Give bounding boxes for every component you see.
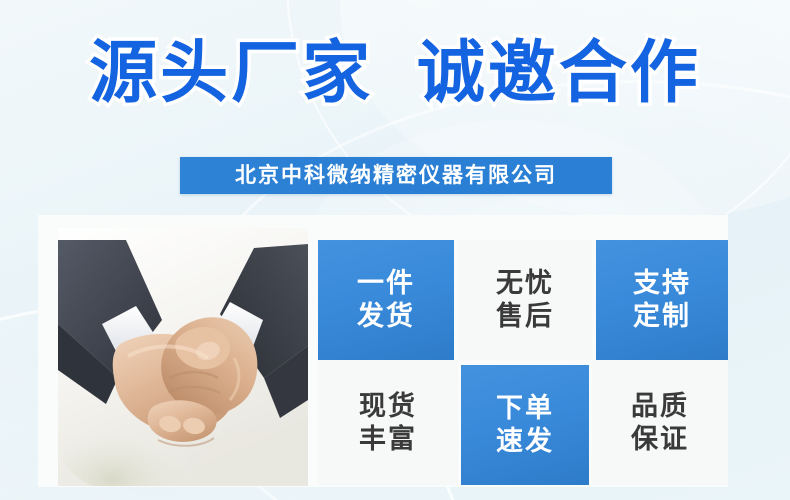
feature-line-2: 售后 <box>496 300 554 333</box>
feature-cell-ample-stock[interactable]: 现货 丰富 <box>318 360 458 485</box>
feature-line-2: 速发 <box>496 425 554 458</box>
promotional-banner: 源头厂家 诚邀合作 北京中科微纳精密仪器有限公司 <box>0 0 790 500</box>
feature-line-1: 现货 <box>359 390 417 423</box>
company-name-bar: 北京中科微纳精密仪器有限公司 <box>180 157 612 194</box>
feature-cell-one-piece-shipping[interactable]: 一件 发货 <box>318 240 454 360</box>
feature-grid: 一件 发货 无忧 售后 支持 定制 现货 丰富 下单 速发 品质 保证 <box>318 240 728 485</box>
headline-title: 源头厂家 诚邀合作 <box>0 36 790 110</box>
feature-line-2: 保证 <box>631 423 689 456</box>
company-name-text: 北京中科微纳精密仪器有限公司 <box>235 165 557 186</box>
feature-line-1: 一件 <box>357 267 415 300</box>
feature-line-2: 发货 <box>357 300 415 333</box>
feature-cell-fast-dispatch[interactable]: 下单 速发 <box>461 365 589 485</box>
feature-cell-worry-free-aftersales[interactable]: 无忧 售后 <box>458 240 592 360</box>
handshake-photo <box>58 228 308 486</box>
feature-line-1: 无忧 <box>496 267 554 300</box>
feature-line-1: 下单 <box>496 392 554 425</box>
feature-line-1: 品质 <box>631 390 689 423</box>
feature-line-2: 定制 <box>633 300 691 333</box>
feature-line-2: 丰富 <box>359 423 417 456</box>
feature-cell-custom-support[interactable]: 支持 定制 <box>596 240 728 360</box>
feature-cell-quality-guarantee[interactable]: 品质 保证 <box>592 360 728 485</box>
feature-line-1: 支持 <box>633 267 691 300</box>
